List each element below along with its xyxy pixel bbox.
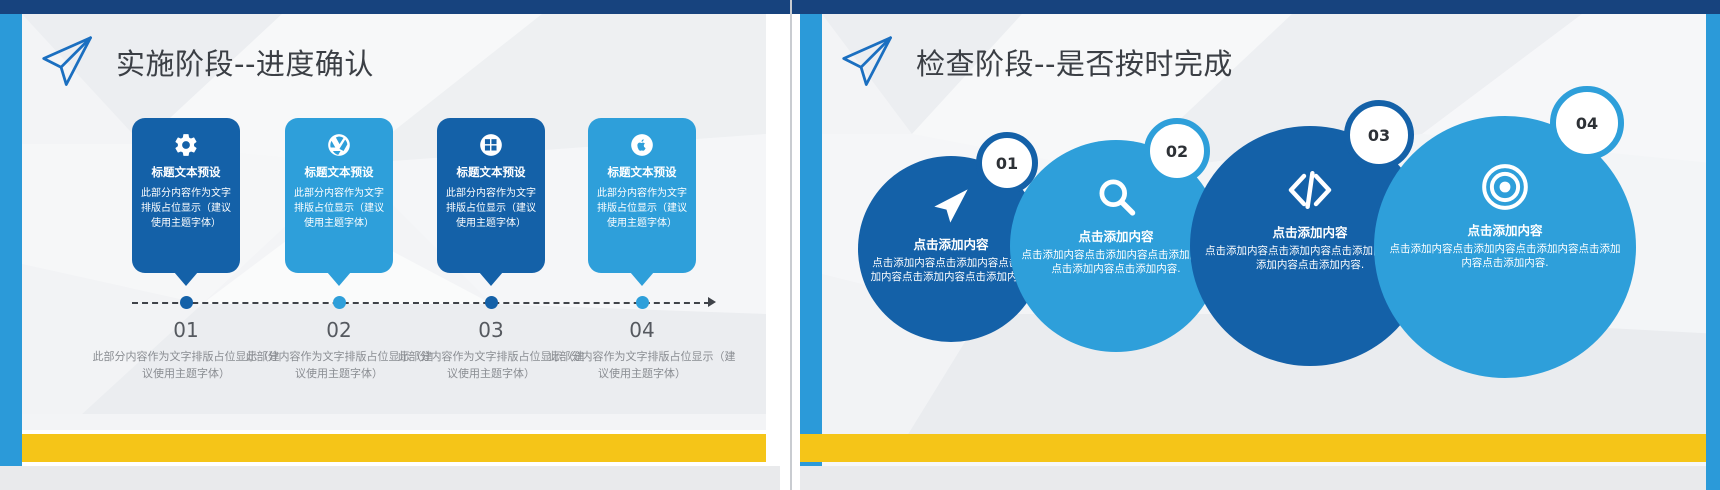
- card-heading: 标题文本预设: [294, 164, 384, 180]
- slide-gap-divider: [790, 0, 792, 490]
- circle-heading: 点击添加内容: [1272, 222, 1347, 241]
- circle-badge-04[interactable]: 04: [1550, 86, 1624, 160]
- circle-badge-03[interactable]: 03: [1344, 100, 1414, 170]
- slide-body-left: 实施阶段--进度确认 标题文本预设此部分内容作为文字排版占位显示（建议使用主题字…: [22, 14, 766, 430]
- left-page-title: 实施阶段--进度确认: [116, 41, 374, 83]
- paper-plane-icon: [840, 36, 896, 88]
- card-2[interactable]: 标题文本预设此部分内容作为文字排版占位显示（建议使用主题字体）: [285, 118, 393, 273]
- apple-icon: [597, 130, 687, 160]
- circle-badge-02[interactable]: 02: [1144, 118, 1210, 184]
- circle-heading: 点击添加内容: [1467, 220, 1542, 239]
- timeline-dot-02[interactable]: [333, 296, 346, 309]
- card-body: 此部分内容作为文字排版占位显示（建议使用主题字体）: [141, 186, 231, 231]
- card-body: 此部分内容作为文字排版占位显示（建议使用主题字体）: [597, 186, 687, 231]
- slide-right-blue-rail: [800, 14, 822, 490]
- left-title-row: 实施阶段--进度确认: [40, 36, 374, 88]
- timeline-text: 此部分内容作为文字排版占位显示（建议使用主题字体）: [547, 348, 737, 382]
- paper-plane-icon: [931, 186, 971, 226]
- slide-implementation-phase[interactable]: 实施阶段--进度确认 标题文本预设此部分内容作为文字排版占位显示（建议使用主题字…: [0, 0, 780, 490]
- search-icon: [1094, 174, 1138, 218]
- paper-plane-icon: [40, 36, 96, 88]
- card-body: 此部分内容作为文字排版占位显示（建议使用主题字体）: [446, 186, 536, 231]
- right-page-title: 检查阶段--是否按时完成: [916, 41, 1233, 83]
- timeline-dot-04[interactable]: [636, 296, 649, 309]
- target-icon: [1480, 162, 1530, 212]
- aperture-icon: [294, 130, 384, 160]
- code-icon: [1286, 166, 1334, 214]
- right-bottom-grey-strip: [800, 466, 1720, 490]
- circle-heading: 点击添加内容: [913, 234, 988, 253]
- right-edge-blue-rail: [1706, 14, 1720, 490]
- card-heading: 标题文本预设: [141, 164, 231, 180]
- windows-icon: [446, 130, 536, 160]
- left-yellow-bar: [22, 434, 766, 462]
- slide-left-blue-rail: [0, 14, 22, 490]
- slide-body-right: 检查阶段--是否按时完成 点击添加内容点击添加内容点击添加内容点击添加内容点击添…: [822, 14, 1720, 490]
- circle-heading: 点击添加内容: [1078, 226, 1153, 245]
- circle-body: 点击添加内容点击添加内容点击添加内容点击添加内容点击添加内容.: [1387, 242, 1623, 270]
- slide-deck-canvas: 实施阶段--进度确认 标题文本预设此部分内容作为文字排版占位显示（建议使用主题字…: [0, 0, 1720, 490]
- circle-body: 点击添加内容点击添加内容点击添加内容点击添加内容点击添加内容.: [1021, 248, 1212, 276]
- timeline-dot-03[interactable]: [485, 296, 498, 309]
- card-body: 此部分内容作为文字排版占位显示（建议使用主题字体）: [294, 186, 384, 231]
- slide-top-navy-bar-right: [800, 0, 1720, 14]
- card-4[interactable]: 标题文本预设此部分内容作为文字排版占位显示（建议使用主题字体）: [588, 118, 696, 273]
- card-heading: 标题文本预设: [597, 164, 687, 180]
- card-1[interactable]: 标题文本预设此部分内容作为文字排版占位显示（建议使用主题字体）: [132, 118, 240, 273]
- timeline-axis: [132, 302, 710, 304]
- timeline-dot-01[interactable]: [180, 296, 193, 309]
- slide-check-phase[interactable]: 检查阶段--是否按时完成 点击添加内容点击添加内容点击添加内容点击添加内容点击添…: [800, 0, 1720, 490]
- gear-icon: [141, 130, 231, 160]
- slide-top-navy-bar: [0, 0, 780, 14]
- timeline-arrow-icon: [708, 297, 716, 307]
- left-bottom-grey-strip: [0, 466, 780, 490]
- timeline-item-04: 04此部分内容作为文字排版占位显示（建议使用主题字体）: [547, 318, 737, 382]
- circle-body: 点击添加内容点击添加内容点击添加内容点击添加内容点击添加内容.: [867, 256, 1034, 284]
- card-3[interactable]: 标题文本预设此部分内容作为文字排版占位显示（建议使用主题字体）: [437, 118, 545, 273]
- right-title-row: 检查阶段--是否按时完成: [840, 36, 1233, 88]
- timeline-number: 04: [547, 318, 737, 342]
- card-heading: 标题文本预设: [446, 164, 536, 180]
- right-yellow-bar: [800, 434, 1720, 462]
